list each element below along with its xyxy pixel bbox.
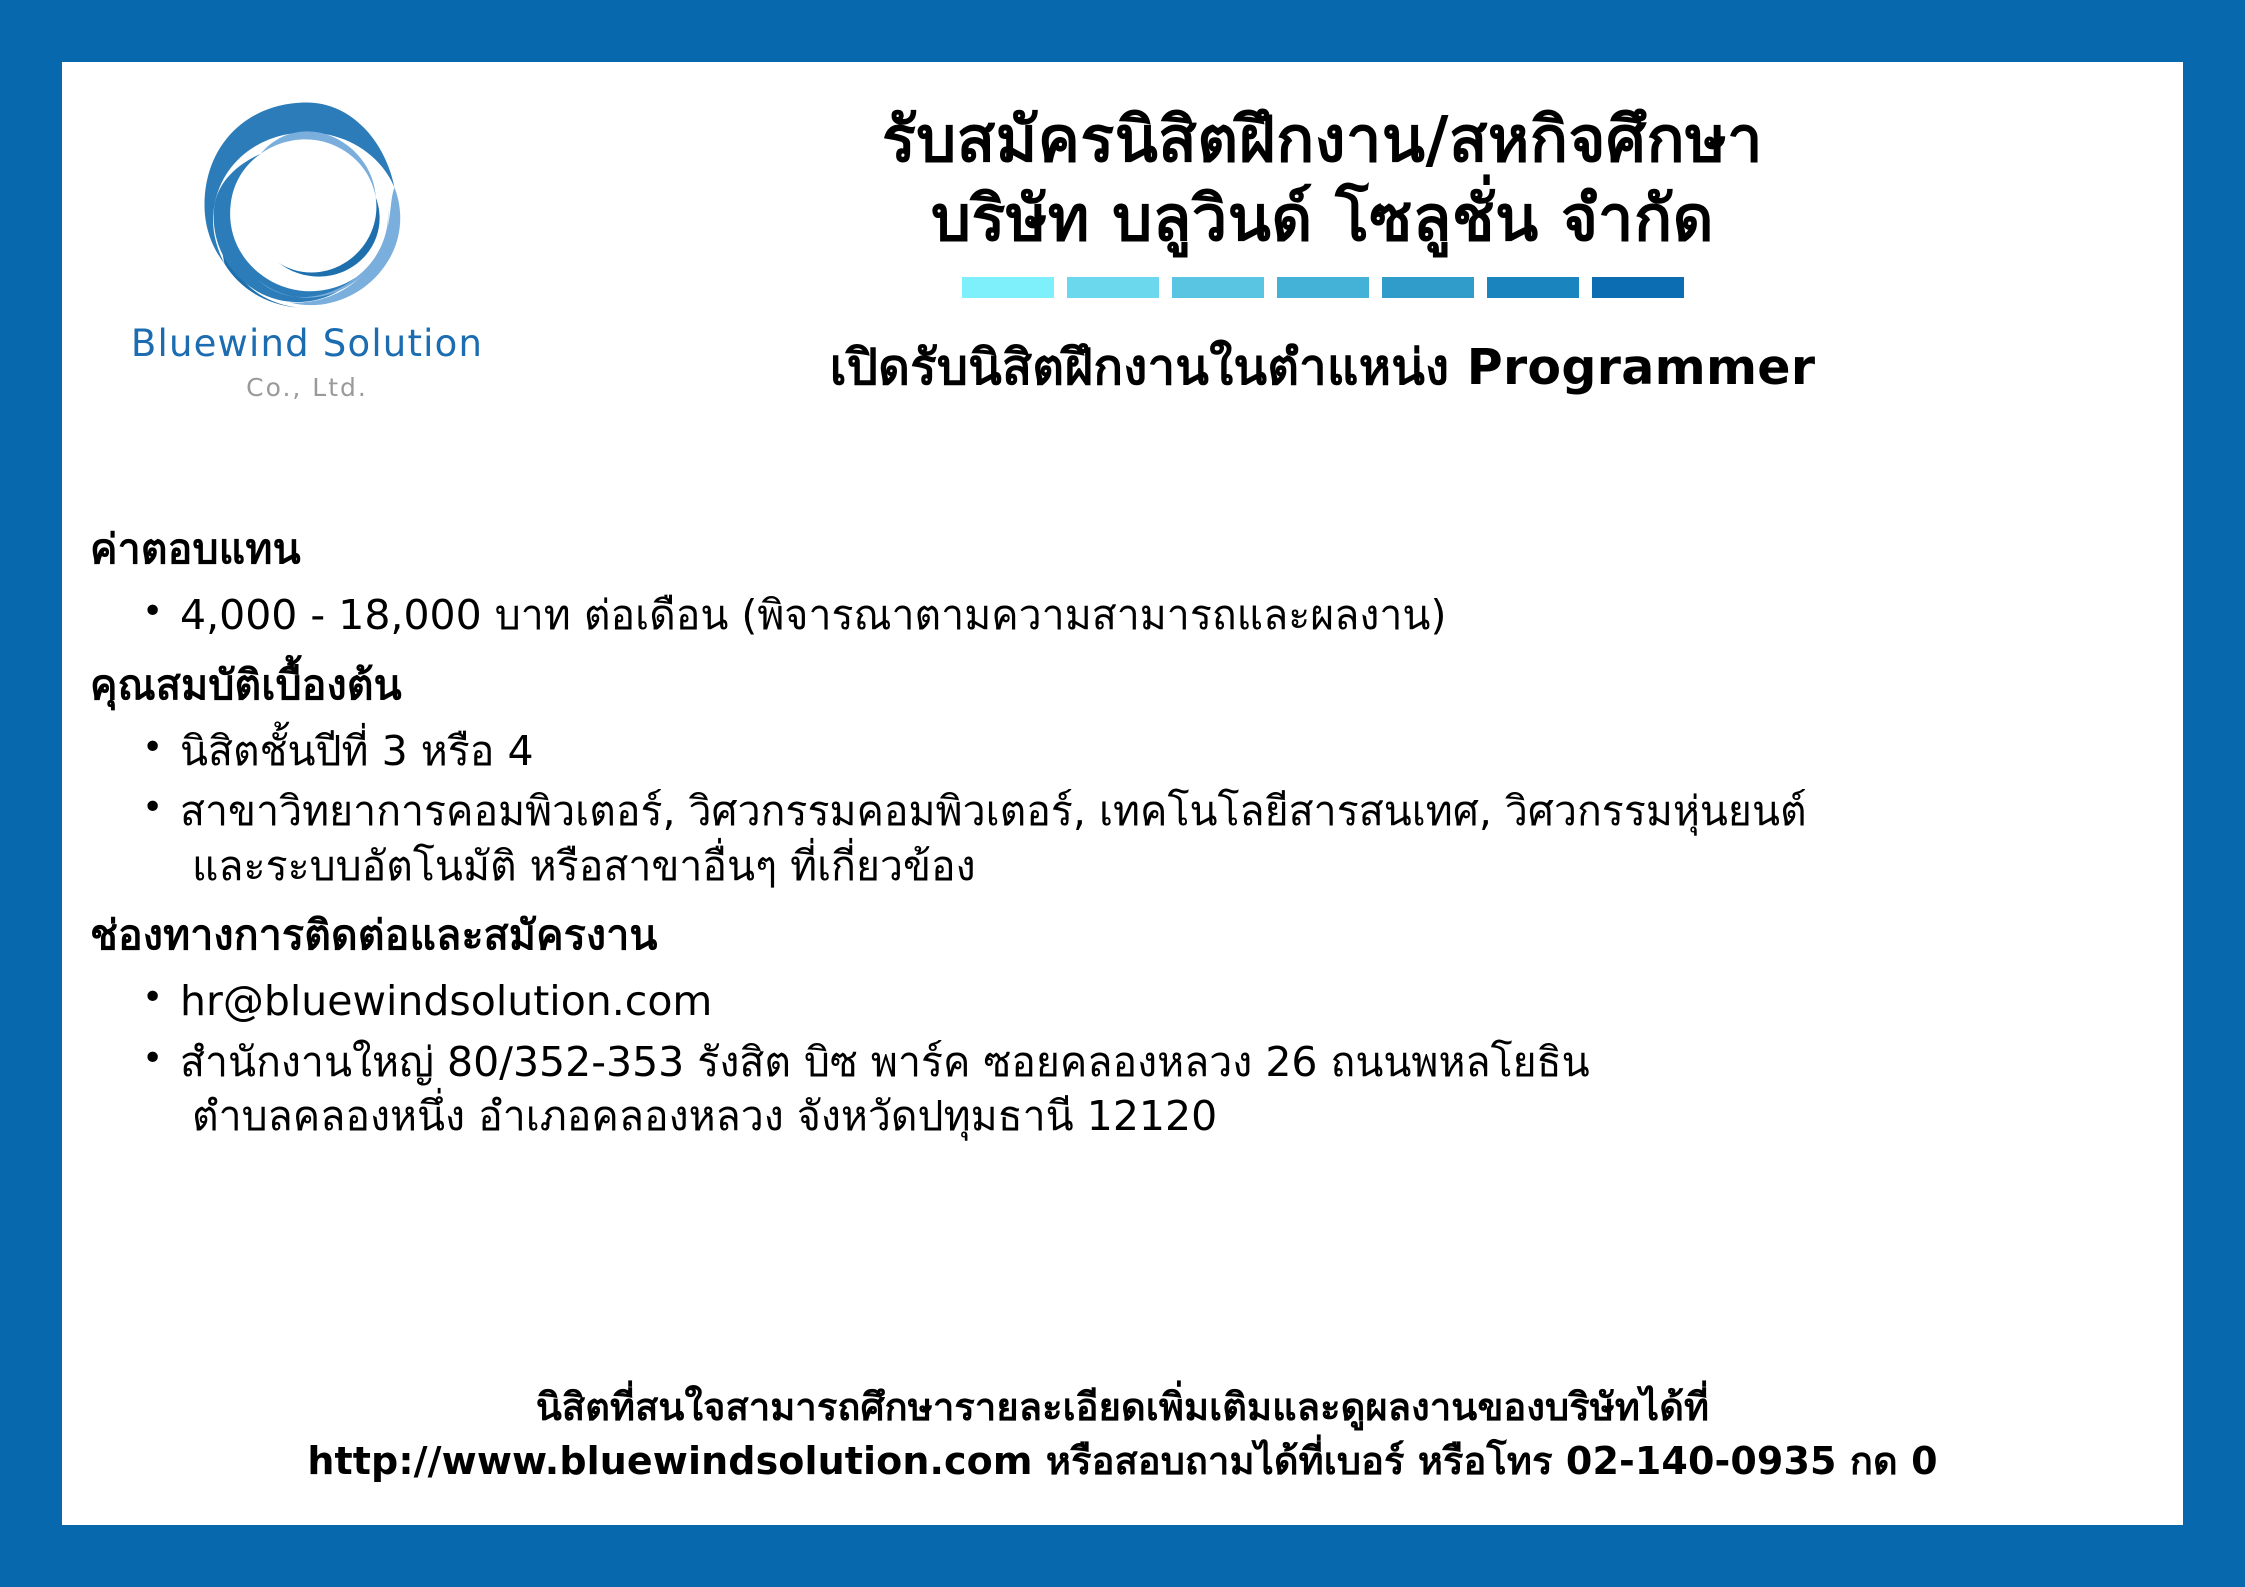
- headline-block: รับสมัครนิสิตฝึกงาน/สหกิจศึกษา บริษัท บล…: [502, 100, 2143, 406]
- poster-inner-card: Bluewind Solution Co., Ltd. รับสมัครนิสิ…: [62, 62, 2183, 1525]
- logo-wordmark: Bluewind Solution: [92, 322, 522, 365]
- contact-list: hr@bluewindsolution.com สำนักงานใหญ่ 80/…: [90, 974, 2155, 1144]
- color-bar-4: [1277, 277, 1369, 298]
- color-bar-3: [1172, 277, 1264, 298]
- list-item: สาขาวิทยาการคอมพิวเตอร์, วิศวกรรมคอมพิวเ…: [90, 784, 2155, 893]
- list-item-address: สำนักงานใหญ่ 80/352-353 รังสิต บิซ พาร์ค…: [90, 1035, 2155, 1144]
- logo-subtext: Co., Ltd.: [92, 373, 522, 402]
- section-heading-qualifications: คุณสมบัติเบื้องต้น: [90, 653, 2155, 718]
- color-bar-divider: [502, 277, 2143, 298]
- section-heading-contact: ช่องทางการติดต่อและสมัครงาน: [90, 903, 2155, 968]
- poster-frame: Bluewind Solution Co., Ltd. รับสมัครนิสิ…: [0, 0, 2245, 1587]
- poster-subtitle: เปิดรับนิสิตฝึกงานในตำแหน่ง Programmer: [502, 328, 2143, 406]
- poster-title-line-1: รับสมัครนิสิตฝึกงาน/สหกิจศึกษา: [502, 100, 2143, 179]
- color-bar-5: [1382, 277, 1474, 298]
- compensation-list: 4,000 - 18,000 บาท ต่อเดือน (พิจารณาตามค…: [90, 588, 2155, 643]
- qualifications-list: นิสิตชั้นปีที่ 3 หรือ 4 สาขาวิทยาการคอมพ…: [90, 724, 2155, 894]
- poster-title-line-2: บริษัท บลูวินด์ โซลูชั่น จำกัด: [502, 179, 2143, 258]
- bluewind-swirl-logo-icon: [182, 80, 432, 330]
- color-bar-6: [1487, 277, 1579, 298]
- color-bar-1: [962, 277, 1054, 298]
- qualification-major-line-2: และระบบอัตโนมัติ หรือสาขาอื่นๆ ที่เกี่ยว…: [180, 839, 2155, 894]
- company-logo-block: Bluewind Solution Co., Ltd.: [92, 80, 522, 402]
- qualification-major-line-1: สาขาวิทยาการคอมพิวเตอร์, วิศวกรรมคอมพิวเ…: [180, 787, 1807, 835]
- list-item: นิสิตชั้นปีที่ 3 หรือ 4: [90, 724, 2155, 779]
- address-line-2: ตำบลคลองหนึ่ง อำเภอคลองหลวง จังหวัดปทุมธ…: [180, 1089, 2155, 1144]
- color-bar-2: [1067, 277, 1159, 298]
- poster-body: ค่าตอบแทน 4,000 - 18,000 บาท ต่อเดือน (พ…: [90, 517, 2155, 1154]
- list-item-email[interactable]: hr@bluewindsolution.com: [90, 974, 2155, 1029]
- address-line-1: สำนักงานใหญ่ 80/352-353 รังสิต บิซ พาร์ค…: [180, 1038, 1590, 1086]
- poster-footer: นิสิตที่สนใจสามารถศึกษารายละเอียดเพิ่มเต…: [92, 1381, 2153, 1489]
- section-heading-compensation: ค่าตอบแทน: [90, 517, 2155, 582]
- list-item: 4,000 - 18,000 บาท ต่อเดือน (พิจารณาตามค…: [90, 588, 2155, 643]
- footer-line-1: นิสิตที่สนใจสามารถศึกษารายละเอียดเพิ่มเต…: [92, 1381, 2153, 1435]
- color-bar-7: [1592, 277, 1684, 298]
- footer-line-2[interactable]: http://www.bluewindsolution.com หรือสอบถ…: [92, 1435, 2153, 1489]
